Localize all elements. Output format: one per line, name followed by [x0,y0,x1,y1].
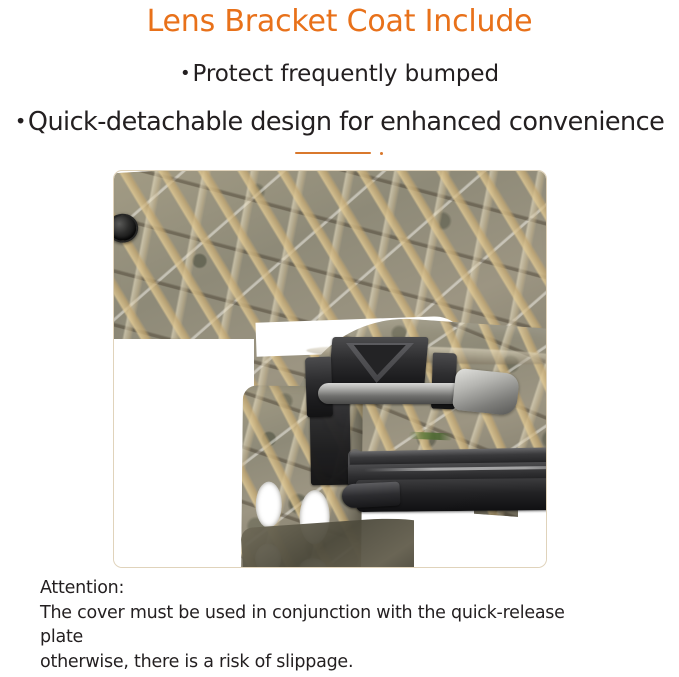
attention-line-1: The cover must be used in conjunction wi… [40,601,679,626]
cross-rail [318,383,464,404]
attention-block: Attention: The cover must be used in con… [40,576,679,674]
attention-line-2: plate [40,625,679,650]
quick-release-lever [341,481,400,508]
feature-bullet-2: •Quick-detachable design for enhanced co… [0,86,679,136]
bullet-marker-icon: • [15,110,28,133]
tripod-cutout [256,482,282,528]
feature-bullet-1-label: Protect frequently bumped [192,61,499,87]
feature-bullet-1: •Protect frequently bumped [0,37,679,86]
divider-line [295,152,371,155]
silver-collar [452,368,520,416]
product-photo: SING [113,170,547,568]
bullet-marker-icon: • [180,63,192,84]
attention-heading: Attention: [40,576,679,601]
saddle-v-groove-inner [351,345,406,375]
product-photo-canvas: SING [114,171,546,567]
feature-bullet-2-label: Quick-detachable design for enhanced con… [28,107,664,137]
cover-flap-accent-stripe [408,432,452,441]
header-divider [0,145,679,163]
rubber-grommet-icon [114,213,139,244]
page-title: Lens Bracket Coat Include [0,0,679,37]
divider-dot-icon [380,152,383,155]
photo-background-left [114,339,254,567]
attention-line-3: otherwise, there is a risk of slippage. [40,650,679,675]
photo-background-lower-right [518,501,546,567]
